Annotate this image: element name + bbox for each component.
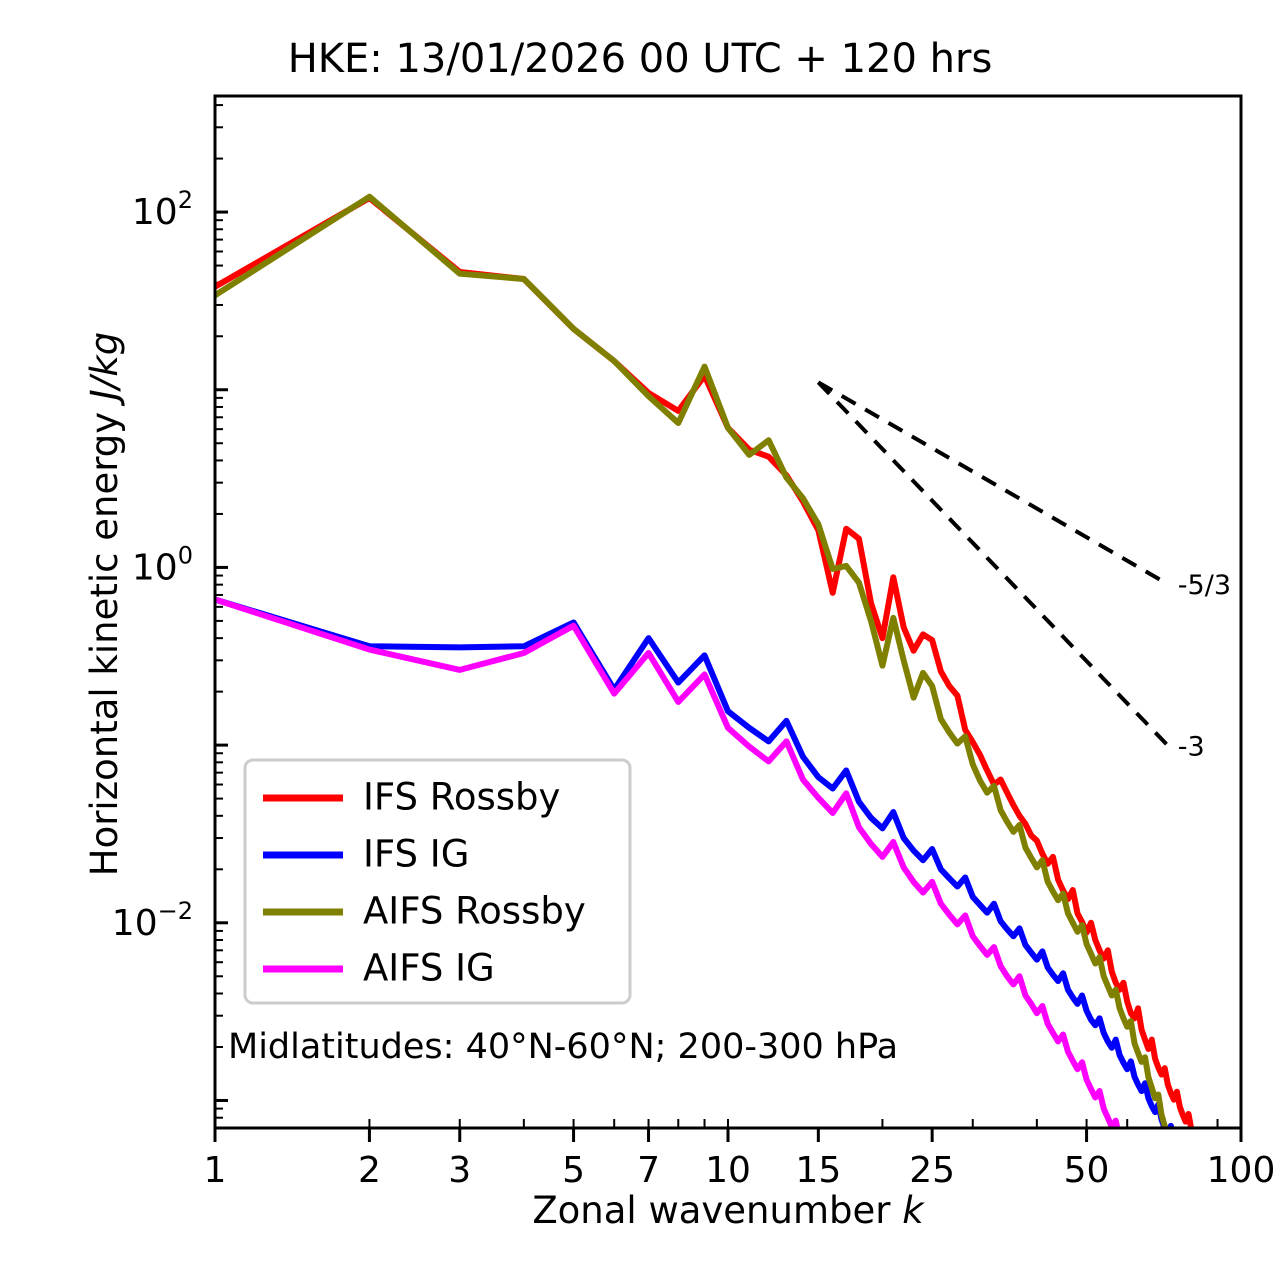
slope-label-minus-three: -3 <box>1178 732 1205 763</box>
slope-reference-lines: -5/3-3 <box>818 382 1231 762</box>
x-tick-label: 10 <box>705 1150 751 1191</box>
y-tick-label: 10−2 <box>112 897 193 944</box>
y-axis-ticks: 10210010−2 <box>112 105 228 1128</box>
x-tick-label: 2 <box>358 1150 381 1191</box>
x-tick-label: 15 <box>795 1150 841 1191</box>
x-axis-ticks: 1235710152550100 <box>204 1119 1276 1191</box>
x-tick-label: 3 <box>448 1150 471 1191</box>
slope-label-five-thirds: -5/3 <box>1178 570 1231 601</box>
figure-root: HKE: 13/01/2026 00 UTC + 120 hrs Horizon… <box>0 0 1280 1288</box>
legend-label-ifs-ig[interactable]: IFS IG <box>363 833 469 876</box>
data-series-group <box>215 197 1241 1252</box>
legend-label-aifs-rossby[interactable]: AIFS Rossby <box>363 890 586 933</box>
legend[interactable]: IFS RossbyIFS IGAIFS RossbyAIFS IG <box>245 760 630 1003</box>
x-tick-label: 50 <box>1064 1150 1110 1191</box>
legend-label-aifs-ig[interactable]: AIFS IG <box>363 947 495 990</box>
y-tick-label: 100 <box>132 541 193 588</box>
plot-canvas: 10210010−2 1235710152550100 -5/3-3 IFS R… <box>0 0 1280 1288</box>
x-tick-label: 1 <box>204 1150 227 1191</box>
x-tick-label: 25 <box>909 1150 955 1191</box>
x-tick-label: 7 <box>637 1150 660 1191</box>
x-tick-label: 100 <box>1207 1150 1276 1191</box>
y-tick-label: 102 <box>132 186 193 233</box>
annotation-note: Midlatitudes: 40°N-60°N; 200-300 hPa <box>228 1027 898 1067</box>
legend-label-ifs-rossby[interactable]: IFS Rossby <box>363 776 560 819</box>
x-tick-label: 5 <box>562 1150 585 1191</box>
